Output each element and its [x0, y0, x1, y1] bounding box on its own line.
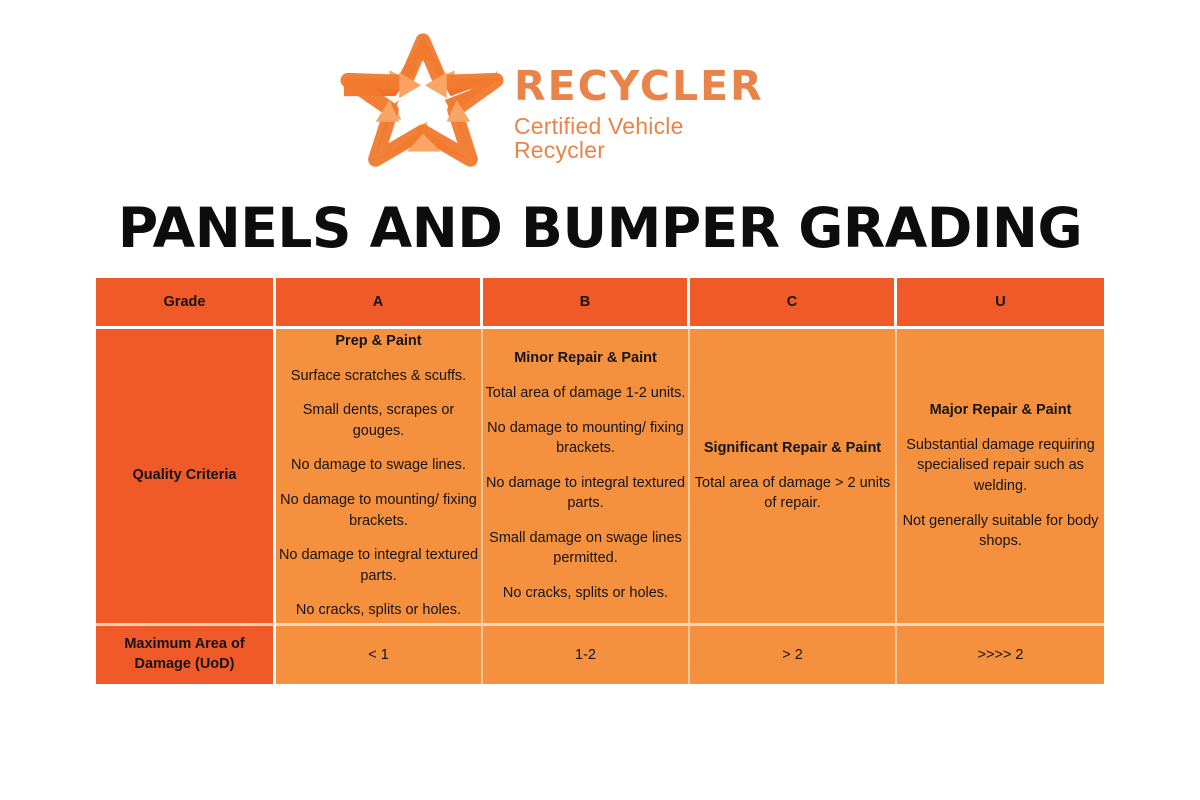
cell-line: No damage to integral textured parts.: [483, 473, 688, 514]
logo-tagline: Certified Vehicle Recycler: [514, 114, 768, 162]
row-label-quality-criteria: Quality Criteria: [96, 329, 276, 623]
recycling-star-logo-icon: [338, 30, 506, 180]
cell-heading: Prep & Paint: [276, 331, 481, 352]
brand-logo: RECYCLER Certified Vehicle Recycler: [338, 30, 768, 180]
cell-criteria-grade-u: Major Repair & Paint Substantial damage …: [897, 329, 1104, 623]
cell-maxarea-grade-c: > 2: [690, 623, 897, 684]
row-label-maximum-area: Maximum Area of Damage (UoD): [96, 623, 276, 684]
cell-line: No damage to integral textured parts.: [276, 545, 481, 586]
header-grade-c: C: [690, 278, 897, 329]
logo-wordmark: RECYCLER: [514, 66, 768, 108]
cell-line: Small damage on swage lines permitted.: [483, 528, 688, 569]
panels-bumper-grading-table: Grade A B C U Quality Criteria Prep & Pa…: [96, 278, 1104, 684]
cell-line: No damage to mounting/ fixing brackets.: [276, 490, 481, 531]
cell-line: Total area of damage > 2 units of repair…: [690, 473, 895, 514]
page-title: PANELS AND BUMPER GRADING: [0, 196, 1200, 260]
table-header-row: Grade A B C U: [96, 278, 1104, 329]
table-row-maximum-area: Maximum Area of Damage (UoD) < 1 1-2 > 2…: [96, 623, 1104, 684]
page-root: RECYCLER Certified Vehicle Recycler PANE…: [0, 0, 1200, 800]
cell-maxarea-grade-a: < 1: [276, 623, 483, 684]
cell-maxarea-grade-u: >>>> 2: [897, 623, 1104, 684]
cell-criteria-grade-a: Prep & Paint Surface scratches & scuffs.…: [276, 329, 483, 623]
table-body: Quality Criteria Prep & Paint Surface sc…: [96, 329, 1104, 684]
cell-line: Substantial damage requiring specialised…: [897, 435, 1104, 497]
cell-line: Total area of damage 1-2 units.: [483, 383, 688, 404]
cell-line: Not generally suitable for body shops.: [897, 511, 1104, 552]
cell-line: No cracks, splits or holes.: [276, 600, 481, 621]
cell-line: No cracks, splits or holes.: [483, 583, 688, 604]
table-row-quality-criteria: Quality Criteria Prep & Paint Surface sc…: [96, 329, 1104, 623]
cell-line: Surface scratches & scuffs.: [276, 366, 481, 387]
cell-maxarea-grade-b: 1-2: [483, 623, 690, 684]
cell-line: No damage to swage lines.: [276, 455, 481, 476]
cell-criteria-grade-c: Significant Repair & Paint Total area of…: [690, 329, 897, 623]
cell-heading: Major Repair & Paint: [897, 400, 1104, 421]
table-header: Grade A B C U: [96, 278, 1104, 329]
cell-criteria-grade-b: Minor Repair & Paint Total area of damag…: [483, 329, 690, 623]
cell-heading: Minor Repair & Paint: [483, 348, 688, 369]
cell-line: Small dents, scrapes or gouges.: [276, 400, 481, 441]
cell-line: No damage to mounting/ fixing brackets.: [483, 418, 688, 459]
header-grade-u: U: [897, 278, 1104, 329]
header-grade-b: B: [483, 278, 690, 329]
cell-heading: Significant Repair & Paint: [690, 438, 895, 459]
logo-text-group: RECYCLER Certified Vehicle Recycler: [514, 48, 768, 162]
header-grade-a: A: [276, 278, 483, 329]
header-grade-label: Grade: [96, 278, 276, 329]
